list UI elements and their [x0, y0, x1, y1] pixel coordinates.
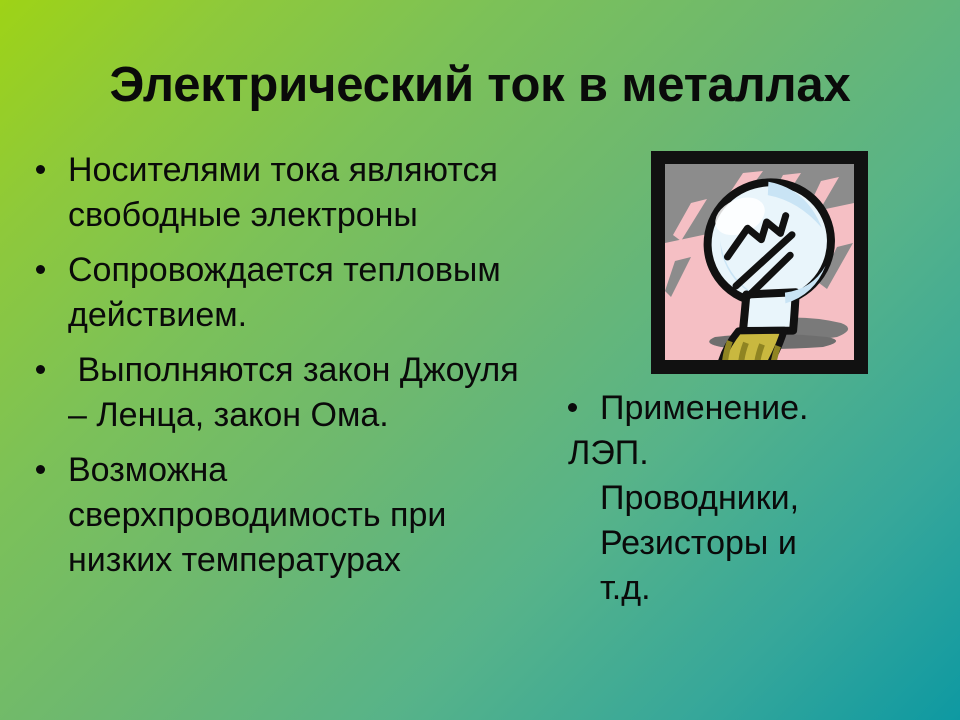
list-item-text: Резисторы и: [600, 521, 954, 566]
bullet-dot-icon: [36, 265, 45, 274]
list-item-text: Выполняются закон Джоуля – Ленца, закон …: [68, 348, 522, 438]
list-item: Применение.: [554, 386, 954, 431]
bullet-dot-icon: [36, 465, 45, 474]
bullet-dot-icon: [568, 403, 577, 412]
left-bullet-list: Носителями тока являются свободные элект…: [22, 148, 522, 593]
list-item-text: ЛЭП.: [568, 431, 954, 476]
list-item: Сопровождается тепловым действием.: [22, 248, 522, 338]
slide-title: Электрический ток в металлах: [0, 57, 960, 113]
list-item: Носителями тока являются свободные элект…: [22, 148, 522, 238]
list-item-text: Носителями тока являются свободные элект…: [68, 148, 522, 238]
list-item-text: Возможна сверхпроводимость при низких те…: [68, 448, 522, 583]
bullet-dot-icon: [36, 365, 45, 374]
light-bulb-image: [651, 151, 868, 374]
list-item-text: Проводники,: [600, 476, 954, 521]
list-item: Возможна сверхпроводимость при низких те…: [22, 448, 522, 583]
list-item-text: Применение.: [600, 386, 954, 431]
list-item: Выполняются закон Джоуля – Ленца, закон …: [22, 348, 522, 438]
list-item-text: Сопровождается тепловым действием.: [68, 248, 522, 338]
list-item-text: т.д.: [600, 566, 954, 611]
right-bullet-list: Применение. ЛЭП. Проводники, Резисторы и…: [554, 386, 954, 611]
bullet-dot-icon: [36, 165, 45, 174]
presentation-slide: Электрический ток в металлах Носителями …: [0, 0, 960, 720]
